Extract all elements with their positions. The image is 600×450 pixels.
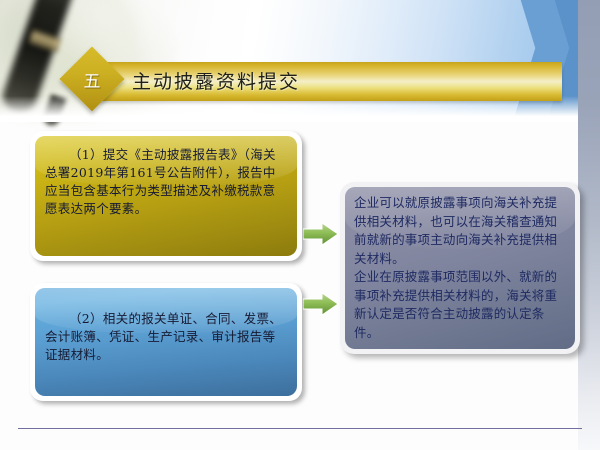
explanation-paragraph-1: 企业可以就原披露事项向海关补充提供相关材料，也可以在海关稽查通知前就新的事项主动… [354,194,566,268]
explanation-panel: 企业可以就原披露事项向海关补充提供相关材料，也可以在海关稽查通知前就新的事项主动… [340,182,580,354]
content-card-blue-text: （2）相关的报关单证、合同、发票、会计账簿、凭证、生产记录、审计报告等证据材料。 [35,288,297,364]
section-badge-label: 五 [63,50,121,108]
content-card-gold-text: （1）提交《主动披露报告表》（海关总署2019年第161号公告附件），报告中应当… [35,136,297,218]
content-card-gold: （1）提交《主动披露报告表》（海关总署2019年第161号公告附件），报告中应当… [30,131,302,261]
explanation-panel-surface: 企业可以就原披露事项向海关补充提供相关材料，也可以在海关稽查通知前就新的事项主动… [345,187,575,349]
content-card-blue: （2）相关的报关单证、合同、发票、会计账簿、凭证、生产记录、审计报告等证据材料。 [30,283,302,401]
explanation-panel-text: 企业可以就原披露事项向海关补充提供相关材料，也可以在海关稽查通知前就新的事项主动… [345,187,575,342]
right-arrow-icon [303,222,339,246]
footer-divider [18,428,582,429]
right-arrow-icon [303,292,339,316]
right-gradient-column [578,0,600,450]
section-badge: 五 [63,50,127,114]
slide-canvas: 主动披露资料提交 五 （1）提交《主动披露报告表》（海关总署2019年第161号… [0,0,600,450]
content-card-blue-surface: （2）相关的报关单证、合同、发票、会计账簿、凭证、生产记录、审计报告等证据材料。 [35,288,297,396]
explanation-paragraph-2: 企业在原披露事项范围以外、就新的事项补充提供相关材料的，海关将重新认定是否符合主… [354,268,566,342]
page-title: 主动披露资料提交 [132,66,532,98]
content-card-gold-surface: （1）提交《主动披露报告表》（海关总署2019年第161号公告附件），报告中应当… [35,136,297,256]
